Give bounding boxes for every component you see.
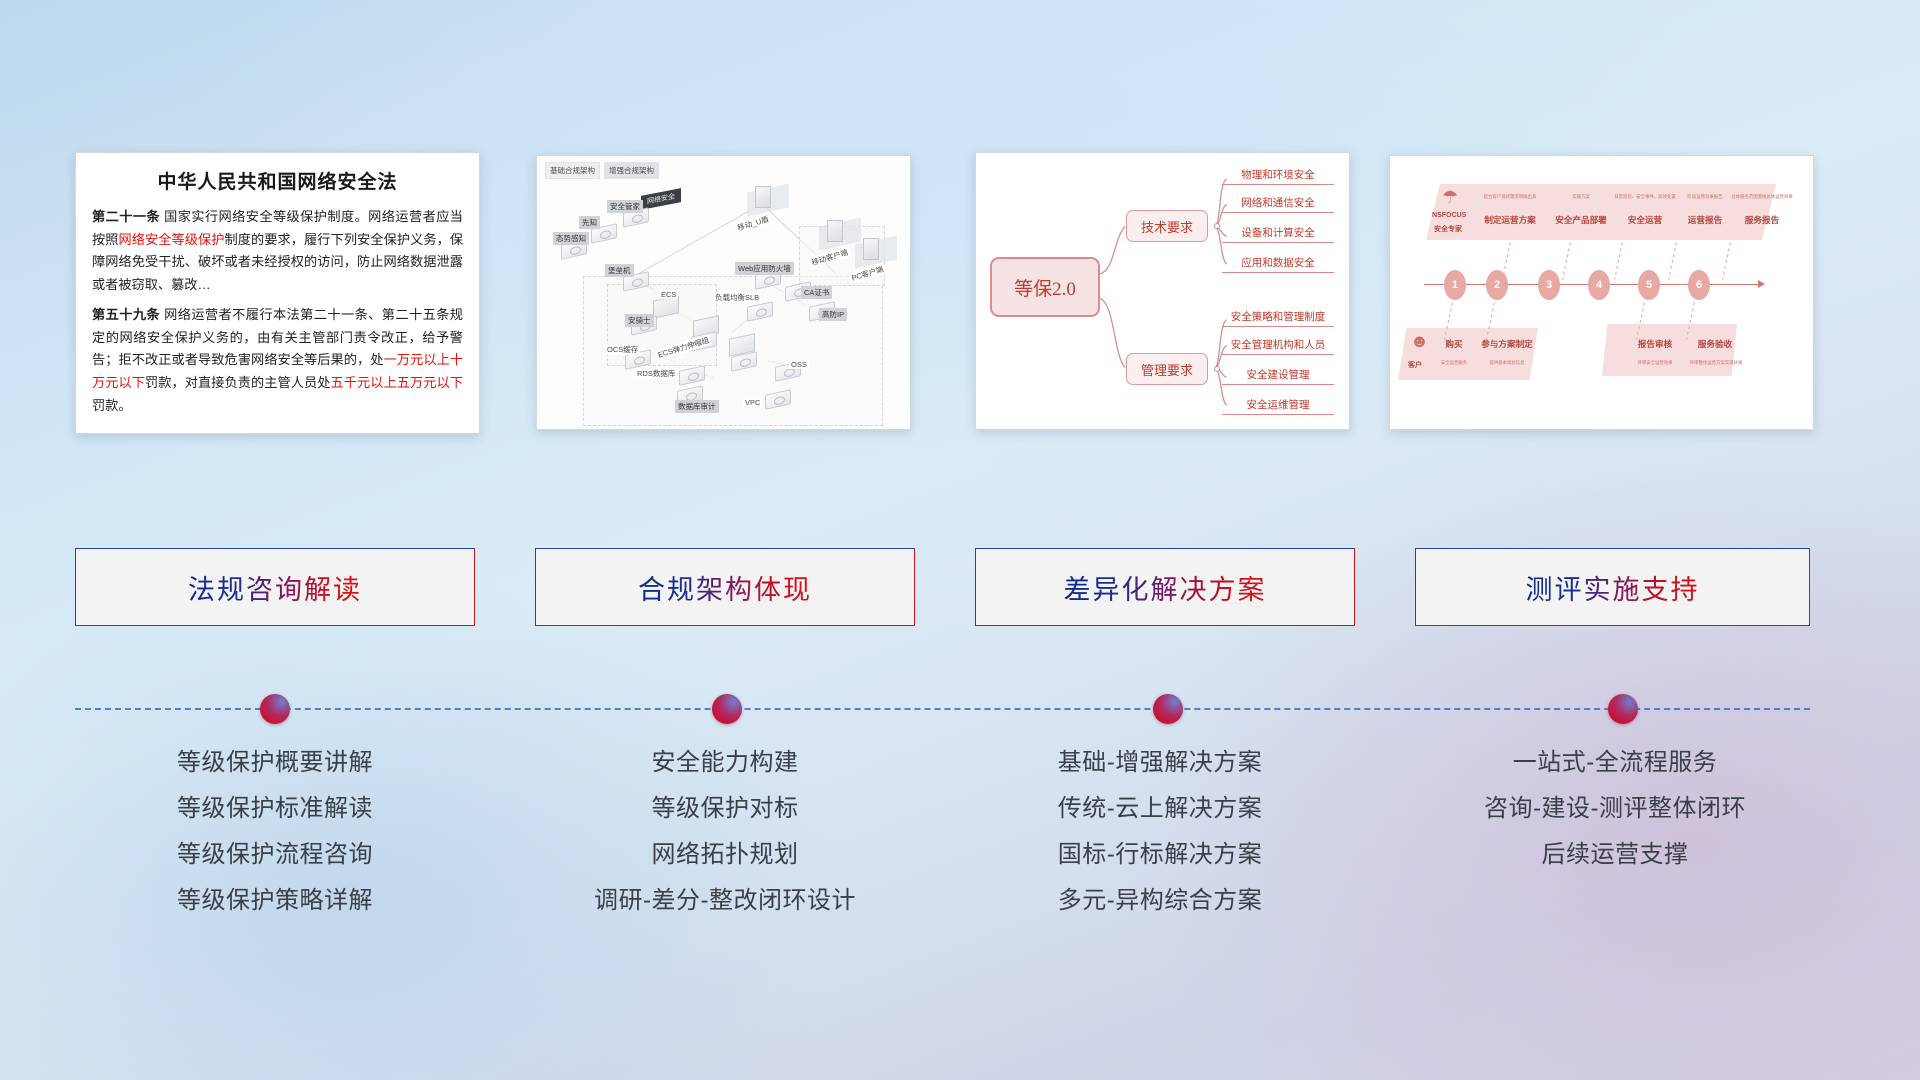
heading-box-differentiated-solution[interactable]: 差异化解决方案 bbox=[975, 548, 1355, 626]
list-item: 安全能力构建 bbox=[525, 740, 925, 786]
list-item: 等级保护流程咨询 bbox=[75, 832, 475, 878]
list-item: 咨询-建设-测评整体闭环 bbox=[1405, 786, 1825, 832]
timeline-dashed-line bbox=[75, 708, 1810, 710]
heading-label-0: 法规咨询解读 bbox=[188, 568, 362, 607]
list-item: 一站式-全流程服务 bbox=[1405, 740, 1825, 786]
heading-label-1: 合规架构体现 bbox=[638, 568, 812, 607]
timeline-dot-2[interactable] bbox=[712, 694, 742, 724]
heading-box-regulation-consulting[interactable]: 法规咨询解读 bbox=[75, 548, 475, 626]
list-item: 等级保护概要讲解 bbox=[75, 740, 475, 786]
list-item: 等级保护策略详解 bbox=[75, 878, 475, 924]
detail-column-3: 基础-增强解决方案 传统-云上解决方案 国标-行标解决方案 多元-异构综合方案 bbox=[960, 740, 1360, 924]
list-item: 多元-异构综合方案 bbox=[960, 878, 1360, 924]
list-item: 调研-差分-整改闭环设计 bbox=[525, 878, 925, 924]
heading-label-2: 差异化解决方案 bbox=[1064, 568, 1267, 607]
list-item: 等级保护对标 bbox=[525, 786, 925, 832]
list-item: 传统-云上解决方案 bbox=[960, 786, 1360, 832]
timeline-dot-4[interactable] bbox=[1608, 694, 1638, 724]
timeline-dot-1[interactable] bbox=[260, 694, 290, 724]
heading-box-compliance-architecture[interactable]: 合规架构体现 bbox=[535, 548, 915, 626]
detail-column-1: 等级保护概要讲解 等级保护标准解读 等级保护流程咨询 等级保护策略详解 bbox=[75, 740, 475, 924]
timeline-dot-3[interactable] bbox=[1153, 694, 1183, 724]
list-item: 网络拓扑规划 bbox=[525, 832, 925, 878]
list-item: 后续运营支撑 bbox=[1405, 832, 1825, 878]
poster-canvas: 中华人民共和国网络安全法 第二十一条 国家实行网络安全等级保护制度。网络运营者应… bbox=[0, 0, 1920, 1080]
detail-column-4: 一站式-全流程服务 咨询-建设-测评整体闭环 后续运营支撑 bbox=[1405, 740, 1825, 878]
heading-box-assessment-support[interactable]: 测评实施支持 bbox=[1415, 548, 1810, 626]
timeline-track bbox=[0, 690, 1920, 730]
heading-label-3: 测评实施支持 bbox=[1526, 568, 1700, 607]
detail-column-2: 安全能力构建 等级保护对标 网络拓扑规划 调研-差分-整改闭环设计 bbox=[525, 740, 925, 924]
list-item: 基础-增强解决方案 bbox=[960, 740, 1360, 786]
list-item: 国标-行标解决方案 bbox=[960, 832, 1360, 878]
list-item: 等级保护标准解读 bbox=[75, 786, 475, 832]
